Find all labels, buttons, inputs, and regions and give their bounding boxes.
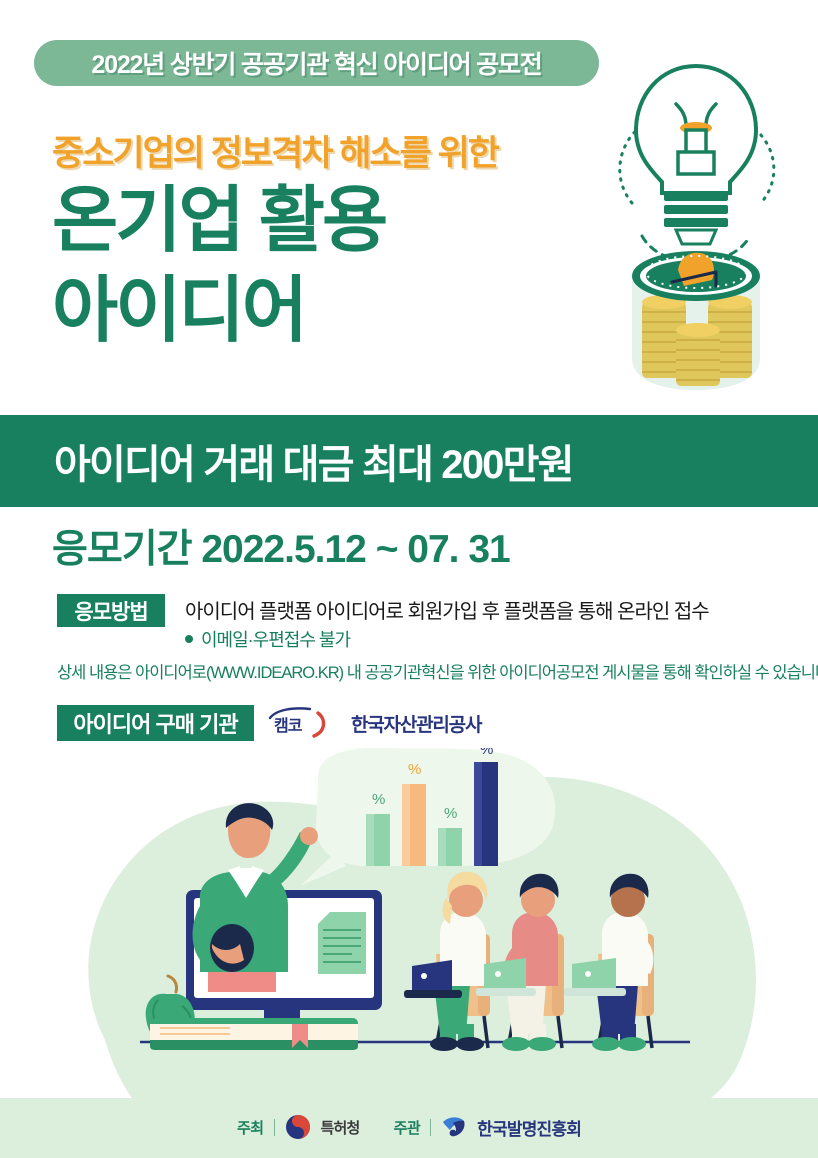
kamco-logo: 캠코 한국자산관리공사: [266, 707, 481, 739]
svg-text:%: %: [408, 761, 421, 778]
kamco-logo-name: 한국자산관리공사: [351, 710, 481, 737]
apply-method-chip: 응모방법: [57, 594, 165, 627]
buyer-institution-chip: 아이디어 구매 기관: [57, 705, 254, 741]
poster-root: 2022년 상반기 공공기관 혁신 아이디어 공모전 중소기업의 정보격차 해소…: [0, 0, 818, 1158]
host-group: 주최 특허청: [237, 1114, 360, 1140]
host-name-label: 특허청: [321, 1117, 360, 1138]
prize-banner: 아이디어 거래 대금 최대 200만원: [0, 415, 818, 507]
poster-subtitle: 중소기업의 정보격차 해소를 위한: [52, 125, 498, 176]
detail-note: 상세 내용은 아이디어로(WWW.IDEARO.KR) 내 공공기관혁신을 위한…: [57, 659, 818, 683]
apply-method-note: 이메일·우편접수 불가: [185, 626, 350, 652]
svg-text:%: %: [480, 748, 493, 758]
organizer-separator: [430, 1119, 431, 1136]
apply-method-note-label: 이메일·우편접수 불가: [201, 626, 350, 652]
buyer-institution-chip-label: 아이디어 구매 기관: [73, 707, 237, 739]
host-role-label: 주최: [237, 1117, 264, 1138]
student-figure-3: [564, 874, 654, 1051]
taegeuk-icon: [285, 1114, 311, 1140]
organizer-role-label: 주관: [394, 1117, 421, 1138]
organizer-name-label: 한국발명진흥회: [477, 1115, 581, 1140]
campaign-badge: 2022년 상반기 공공기관 혁신 아이디어 공모전: [34, 40, 599, 86]
host-separator: [274, 1119, 275, 1136]
student-figure-1: [404, 872, 490, 1051]
organizer-group: 주관 한국발명진흥회: [394, 1114, 582, 1140]
lightbulb-coin-jar-icon: [598, 58, 808, 403]
apply-method-text: 아이디어 플랫폼 아이디어로 회원가입 후 플랫폼을 통해 온라인 접수: [185, 595, 709, 624]
book-icon: [150, 1018, 358, 1050]
kamco-logo-icon: 캠코: [266, 707, 344, 739]
svg-text:%: %: [444, 805, 457, 822]
campaign-badge-label: 2022년 상반기 공공기관 혁신 아이디어 공모전: [91, 45, 541, 81]
bullet-dot: [185, 635, 193, 643]
svg-text:캠코: 캠코: [274, 717, 303, 735]
apply-method-chip-label: 응모방법: [74, 596, 147, 626]
application-period: 응모기간 2022.5.12 ~ 07. 31: [52, 518, 510, 574]
kipa-logo-icon: [441, 1114, 467, 1140]
prize-banner-label: 아이디어 거래 대금 최대 200만원: [54, 432, 573, 490]
online-class-illustration: % % % %: [0, 748, 818, 1108]
footer-organisations: 주최 특허청 주관 한국발명진흥회: [0, 1110, 818, 1144]
poster-title-line2: 아이디어: [52, 275, 305, 347]
svg-text:%: %: [372, 791, 385, 808]
poster-title-line1: 온기업 활용: [52, 185, 385, 257]
